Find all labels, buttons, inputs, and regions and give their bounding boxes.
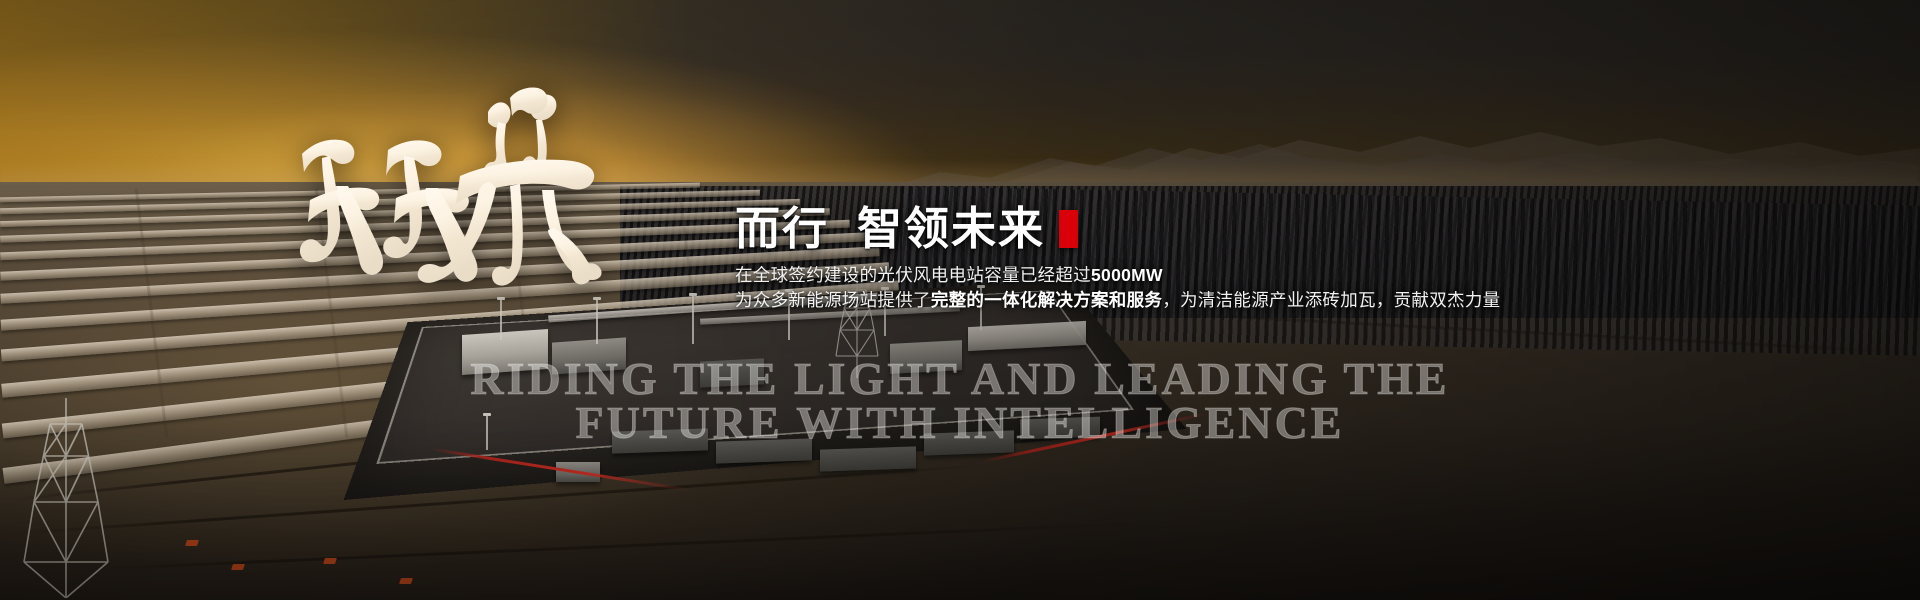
- calligraphy-shuang-guang: [292, 58, 602, 288]
- hero-banner: 而行 智领未来 在全球签约建设的光伏风电电站容量已经超过5000MW 为众多新能…: [0, 0, 1920, 600]
- calligraphy-strokes: [300, 87, 602, 285]
- subtitle-capacity-value: 5000MW: [1091, 265, 1163, 285]
- subtitle-line-2: 为众多新能源场站提供了完整的一体化解决方案和服务，为清洁能源产业添砖加瓦，贡献双…: [735, 288, 1500, 313]
- subtitle-line-2-prefix: 为众多新能源场站提供了: [735, 290, 931, 310]
- subtitle-line-1-text: 在全球签约建设的光伏风电电站容量已经超过: [735, 265, 1091, 285]
- subtitle-line-1: 在全球签约建设的光伏风电电站容量已经超过5000MW: [735, 263, 1500, 288]
- headline-part-1: 而行: [735, 205, 829, 252]
- headline: 而行 智领未来: [735, 205, 1500, 252]
- hero-text-block: 而行 智领未来 在全球签约建设的光伏风电电站容量已经超过5000MW 为众多新能…: [735, 205, 1500, 313]
- subtitle-line-2-strong: 完整的一体化解决方案和服务: [931, 290, 1162, 310]
- subtitle-line-2-suffix: ，为清洁能源产业添砖加瓦，贡献双杰力量: [1162, 290, 1500, 310]
- headline-part-2: 智领未来: [857, 205, 1045, 252]
- red-accent-block: [1059, 210, 1078, 248]
- tagline-line-2: FUTURE WITH INTELLIGENCE: [0, 396, 1920, 449]
